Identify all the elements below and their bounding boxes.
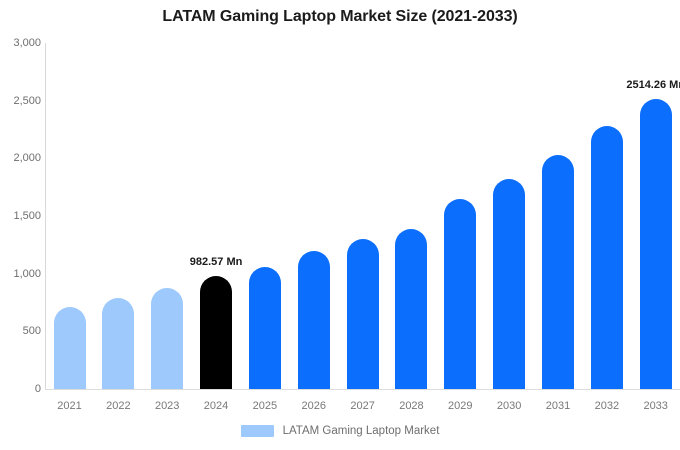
chart-container: LATAM Gaming Laptop Market Size (2021-20… xyxy=(0,0,680,450)
x-axis-tick-2023: 2023 xyxy=(155,400,179,412)
x-axis-tick-2027: 2027 xyxy=(350,400,374,412)
legend-label: LATAM Gaming Laptop Market xyxy=(283,425,440,437)
chart-legend: LATAM Gaming Laptop Market xyxy=(0,425,680,437)
x-axis-tick-labels: 2021202220232024202520262027202820292030… xyxy=(0,0,680,450)
x-axis-tick-2026: 2026 xyxy=(302,400,326,412)
x-axis-tick-2029: 2029 xyxy=(448,400,472,412)
x-axis-tick-2033: 2033 xyxy=(643,400,667,412)
x-axis-tick-2021: 2021 xyxy=(57,400,81,412)
x-axis-tick-2028: 2028 xyxy=(399,400,423,412)
legend-item[interactable]: LATAM Gaming Laptop Market xyxy=(241,425,440,437)
x-axis-tick-2031: 2031 xyxy=(546,400,570,412)
x-axis-tick-2032: 2032 xyxy=(595,400,619,412)
x-axis-tick-2022: 2022 xyxy=(106,400,130,412)
x-axis-tick-2025: 2025 xyxy=(253,400,277,412)
legend-swatch-icon xyxy=(241,425,274,437)
x-axis-tick-2030: 2030 xyxy=(497,400,521,412)
x-axis-tick-2024: 2024 xyxy=(204,400,228,412)
